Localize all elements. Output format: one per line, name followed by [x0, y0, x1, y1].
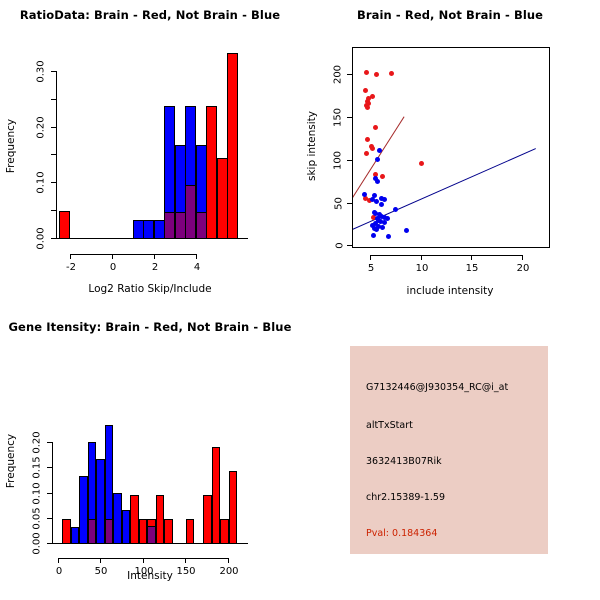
scatter-point-brain: [364, 70, 369, 75]
ratio-histogram-y-tick-0.20: [51, 127, 56, 128]
scatter-point-brain: [380, 174, 385, 179]
scatter-data-area: [353, 48, 549, 247]
scatter-point-not-brain: [377, 148, 382, 153]
ratio-histogram-x-label-2: 2: [140, 262, 170, 273]
scatter-point-not-brain: [375, 157, 380, 162]
scatter-y-label-150: 150: [333, 103, 344, 133]
gene-info-probe-id: G7132446@J930354_RC@i_at: [366, 382, 508, 393]
gene-histogram-x-tick-0: [58, 558, 59, 563]
scatter-point-brain: [389, 71, 394, 76]
gene-histogram-x-label-0: 0: [44, 566, 74, 577]
ratio-histogram-y-label-0.20: 0.20: [36, 112, 47, 144]
ratio-histogram-y-tick-0.10: [51, 182, 56, 183]
ratio-histogram-x-tick-0: [112, 254, 113, 259]
gene-bar-red-150: [186, 519, 194, 544]
scatter-title: Brain - Red, Not Brain - Blue: [300, 8, 600, 22]
scatter-y-axis-title: skip intensity: [306, 111, 318, 181]
scatter-point-not-brain: [386, 234, 391, 239]
gene-info-box: G7132446@J930354_RC@i_at altTxStart 3632…: [350, 346, 548, 554]
scatter-y-tick-200: [347, 74, 352, 75]
scatter-point-not-brain: [380, 225, 385, 230]
panel-ratio-histogram: RatioData: Brain - Red, Not Brain - Blue…: [0, 0, 300, 300]
gene-histogram-y-axis-title: Frequency: [5, 429, 17, 493]
ratio-histogram-y-label-0.00: 0.00: [36, 223, 47, 255]
gene-bar-red-115: [156, 495, 164, 544]
gene-histogram-y-tick-0.15: [47, 467, 52, 468]
scatter-y-tick-0: [347, 245, 352, 246]
ratio-bar-red-4.5: [206, 106, 217, 239]
gene-histogram-x-tick-150: [185, 558, 186, 563]
scatter-y-label-100: 100: [333, 146, 344, 176]
ratio-histogram-x-axis-title: Log2 Ratio Skip/Include: [40, 283, 260, 295]
ratio-histogram-x-axis: [70, 254, 196, 255]
gene-histogram-x-label-200: 200: [214, 566, 244, 577]
scatter-x-axis: [370, 255, 522, 256]
ratio-histogram-y-tick-0.05: [51, 210, 56, 211]
ratio-bar-red-3.5: [185, 185, 196, 239]
scatter-point-brain: [363, 88, 368, 93]
ratio-histogram-y-axis-title: Frequency: [5, 114, 17, 178]
ratio-histogram-y-label-0.10: 0.10: [36, 167, 47, 199]
ratio-bar-red-neg2: [59, 211, 70, 239]
scatter-point-brain: [370, 146, 375, 151]
ratio-histogram-x-tick-2: [154, 254, 155, 259]
gene-bar-red-192: [220, 519, 229, 544]
gene-bar-blue-75: [122, 510, 130, 544]
ratio-bar-blue-1.5: [143, 220, 154, 239]
scatter-point-not-brain: [382, 197, 387, 202]
gene-histogram-x-label-150: 150: [171, 566, 201, 577]
gene-bar-blue-45: [96, 459, 105, 544]
ratio-histogram-x-tick--2: [70, 254, 71, 259]
gene-histogram-y-label-0.20: 0.20: [32, 427, 43, 459]
ratio-bar-red-2.5: [164, 212, 175, 239]
ratio-histogram-x-tick-4: [196, 254, 197, 259]
ratio-histogram-y-tick-0.30: [51, 71, 56, 72]
scatter-y-tick-100: [347, 160, 352, 161]
scatter-point-not-brain: [374, 227, 379, 232]
scatter-x-tick-20: [522, 255, 523, 260]
gene-histogram-x-label-50: 50: [86, 566, 116, 577]
scatter-y-tick-50: [347, 203, 352, 204]
gene-histogram-y-tick-0.20: [47, 442, 52, 443]
scatter-point-not-brain: [379, 202, 384, 207]
gene-info-event-type: altTxStart: [366, 420, 413, 431]
scatter-point-not-brain: [362, 192, 367, 197]
gene-bar-red-125: [164, 519, 173, 544]
gene-bar-blue-15: [71, 527, 79, 544]
scatter-y-label-200: 200: [333, 60, 344, 90]
gene-histogram-y-axis: [52, 442, 53, 544]
ratio-histogram-y-tick-0.15: [51, 154, 56, 155]
gene-bar-red-182: [212, 447, 220, 544]
scatter-x-label-5: 5: [356, 263, 386, 274]
scatter-point-brain: [374, 72, 379, 77]
gene-bar-overlap-115: [147, 526, 156, 544]
scatter-point-brain: [419, 161, 424, 166]
scatter-point-brain: [370, 94, 375, 99]
ratio-histogram-x-label-0: 0: [98, 262, 128, 273]
scatter-point-brain: [365, 137, 370, 142]
gene-histogram-x-tick-100: [143, 558, 144, 563]
ratio-histogram-x-label--2: -2: [56, 262, 86, 273]
scatter-point-not-brain: [371, 233, 376, 238]
scatter-point-brain: [364, 151, 369, 156]
gene-bar-red-202: [229, 471, 237, 544]
ratio-histogram-y-label-0.30: 0.30: [36, 56, 47, 88]
gene-bar-red-5: [62, 519, 71, 544]
ratio-histogram-title: RatioData: Brain - Red, Not Brain - Blue: [0, 8, 300, 22]
gene-bar-blue-25: [79, 476, 88, 544]
gene-info-locus: chr2.15389-1.59: [366, 492, 445, 503]
panel-gene-info: G7132446@J930354_RC@i_at altTxStart 3632…: [300, 300, 600, 600]
scatter-y-label-0: 0: [335, 234, 346, 258]
ratio-bar-red-5.5: [227, 53, 238, 239]
gene-bar-overlap-55: [105, 519, 113, 544]
scatter-y-label-50: 50: [334, 191, 345, 217]
gene-histogram-x-tick-50: [100, 558, 101, 563]
gene-histogram-x-tick-200: [228, 558, 229, 563]
scatter-x-label-10: 10: [407, 263, 437, 274]
gene-bar-red-172: [203, 495, 212, 544]
scatter-x-label-15: 15: [457, 263, 487, 274]
scatter-point-brain: [373, 125, 378, 130]
gene-histogram-x-label-100: 100: [129, 566, 159, 577]
scatter-x-axis-title: include intensity: [340, 285, 560, 297]
gene-bar-red-85: [130, 495, 139, 544]
gene-histogram-title: Gene Itensity: Brain - Red, Not Brain - …: [0, 320, 300, 334]
scatter-y-tick-150: [347, 117, 352, 118]
ratio-histogram-x-label-4: 4: [182, 262, 212, 273]
scatter-point-brain: [365, 105, 370, 110]
gene-bar-overlap-35: [88, 519, 96, 544]
scatter-point-not-brain: [375, 179, 380, 184]
gene-histogram-y-tick-0.10: [47, 493, 52, 494]
scatter-point-not-brain: [393, 207, 398, 212]
panel-gene-intensity-histogram: Gene Itensity: Brain - Red, Not Brain - …: [0, 300, 300, 600]
gene-histogram-y-tick-0.05: [47, 518, 52, 519]
scatter-point-not-brain: [404, 228, 409, 233]
ratio-histogram-y-tick-0.25: [51, 99, 56, 100]
gene-info-pvalue: Pval: 0.184364: [366, 528, 437, 539]
gene-info-gene-symbol: 3632413B07Rik: [366, 456, 442, 467]
gene-bar-red-95: [139, 519, 147, 544]
gene-bar-blue-65: [113, 493, 122, 544]
panel-intensity-scatter: Brain - Red, Not Brain - Blue skip inten…: [300, 0, 600, 300]
scatter-x-label-20: 20: [508, 263, 538, 274]
ratio-histogram-y-axis: [56, 71, 57, 239]
